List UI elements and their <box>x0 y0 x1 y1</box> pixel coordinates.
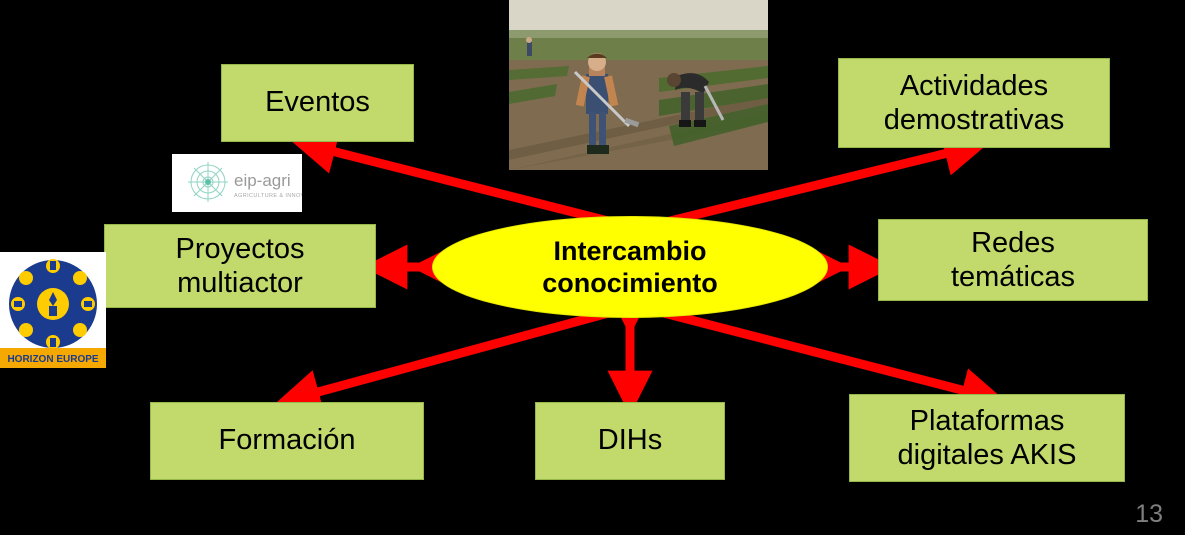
node-proyectos-label-line2: multiactor <box>176 266 305 300</box>
node-dihs[interactable]: DIHs <box>535 402 725 480</box>
node-proyectos-multiactor-label: Proyectos multiactor <box>176 232 305 300</box>
node-redes-label-line2: temáticas <box>951 260 1075 294</box>
node-proyectos-label-line1: Proyectos <box>176 232 305 266</box>
node-plataformas-digitales-akis[interactable]: Plataformas digitales AKIS <box>849 394 1125 482</box>
center-node-intercambio-conocimiento[interactable]: Intercambio conocimiento <box>432 216 828 318</box>
eip-agri-logo: eip-agri AGRICULTURE & INNOVATION <box>172 154 302 212</box>
slide-canvas: eip-agri AGRICULTURE & INNOVATION <box>0 0 1185 535</box>
node-redes-tematicas-label: Redes temáticas <box>951 226 1075 294</box>
svg-text:HORIZON EUROPE: HORIZON EUROPE <box>7 354 98 365</box>
node-proyectos-multiactor[interactable]: Proyectos multiactor <box>104 224 376 308</box>
node-actividades-label-line2: demostrativas <box>884 103 1065 137</box>
node-eventos-label: Eventos <box>265 86 370 119</box>
node-actividades-demostrativas-label: Actividades demostrativas <box>884 69 1065 137</box>
node-redes-label-line1: Redes <box>951 226 1075 260</box>
node-formacion[interactable]: Formación <box>150 402 424 480</box>
center-node-label: Intercambio conocimiento <box>542 235 718 300</box>
node-plataformas-label: Plataformas digitales AKIS <box>898 404 1077 472</box>
node-redes-tematicas[interactable]: Redes temáticas <box>878 219 1148 301</box>
arrow-center-to-plataformas <box>660 312 985 396</box>
node-plataformas-label-line2: digitales AKIS <box>898 438 1077 472</box>
svg-text:AGRICULTURE & INNOVATION: AGRICULTURE & INNOVATION <box>234 193 302 199</box>
horizon-europe-logo: HORIZON EUROPE <box>0 252 106 368</box>
node-actividades-demostrativas[interactable]: Actividades demostrativas <box>838 58 1110 148</box>
center-node-label-line2: conocimiento <box>542 267 718 299</box>
field-workers-photo <box>509 0 768 170</box>
node-formacion-label: Formación <box>219 424 356 457</box>
node-actividades-label-line1: Actividades <box>884 69 1065 103</box>
center-node-label-line1: Intercambio <box>542 235 718 267</box>
page-number: 13 <box>1135 500 1163 529</box>
node-dihs-label: DIHs <box>598 424 662 457</box>
svg-text:eip-agri: eip-agri <box>234 171 291 190</box>
node-plataformas-label-line1: Plataformas <box>898 404 1077 438</box>
arrow-center-to-formacion <box>296 312 612 398</box>
node-eventos[interactable]: Eventos <box>221 64 414 142</box>
